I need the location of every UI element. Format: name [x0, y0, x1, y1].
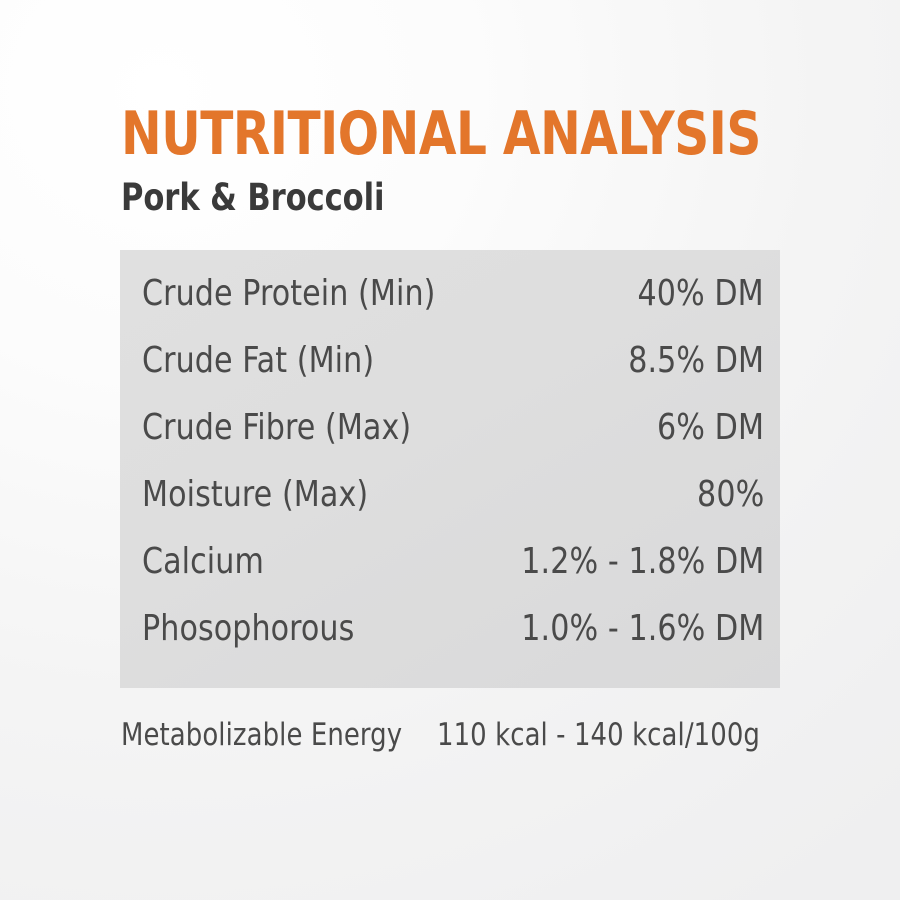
- metabolizable-energy-label: Metabolizable Energy: [121, 716, 402, 754]
- row-value: 8.5% DM: [628, 339, 764, 383]
- row-label: Moisture (Max): [142, 473, 368, 517]
- row-value: 6% DM: [657, 406, 764, 450]
- table-row: Phosophorous 1.0% - 1.6% DM: [142, 607, 764, 674]
- page-title: NUTRITIONAL ANALYSIS: [121, 104, 733, 164]
- metabolizable-energy-value: 110 kcal - 140 kcal/100g: [437, 716, 760, 754]
- table-row: Moisture (Max) 80%: [142, 473, 764, 540]
- row-label: Phosophorous: [142, 607, 354, 651]
- metabolizable-energy-row: Metabolizable Energy 110 kcal - 140 kcal…: [121, 716, 785, 754]
- row-label: Crude Protein (Min): [142, 272, 435, 316]
- row-value: 1.2% - 1.8% DM: [521, 540, 764, 584]
- nutritional-analysis-card: NUTRITIONAL ANALYSIS Pork & Broccoli Cru…: [0, 0, 900, 900]
- analysis-panel: Crude Protein (Min) 40% DM Crude Fat (Mi…: [120, 250, 780, 688]
- row-value: 1.0% - 1.6% DM: [521, 607, 764, 651]
- heading-block: NUTRITIONAL ANALYSIS Pork & Broccoli: [121, 104, 801, 218]
- row-label: Crude Fat (Min): [142, 339, 374, 383]
- table-row: Crude Fat (Min) 8.5% DM: [142, 339, 764, 406]
- row-label: Crude Fibre (Max): [142, 406, 411, 450]
- table-row: Calcium 1.2% - 1.8% DM: [142, 540, 764, 607]
- analysis-rows: Crude Protein (Min) 40% DM Crude Fat (Mi…: [142, 272, 764, 674]
- row-label: Calcium: [142, 540, 264, 584]
- table-row: Crude Protein (Min) 40% DM: [142, 272, 764, 339]
- product-subtitle: Pork & Broccoli: [121, 178, 747, 218]
- table-row: Crude Fibre (Max) 6% DM: [142, 406, 764, 473]
- row-value: 80%: [697, 473, 764, 517]
- row-value: 40% DM: [638, 272, 764, 316]
